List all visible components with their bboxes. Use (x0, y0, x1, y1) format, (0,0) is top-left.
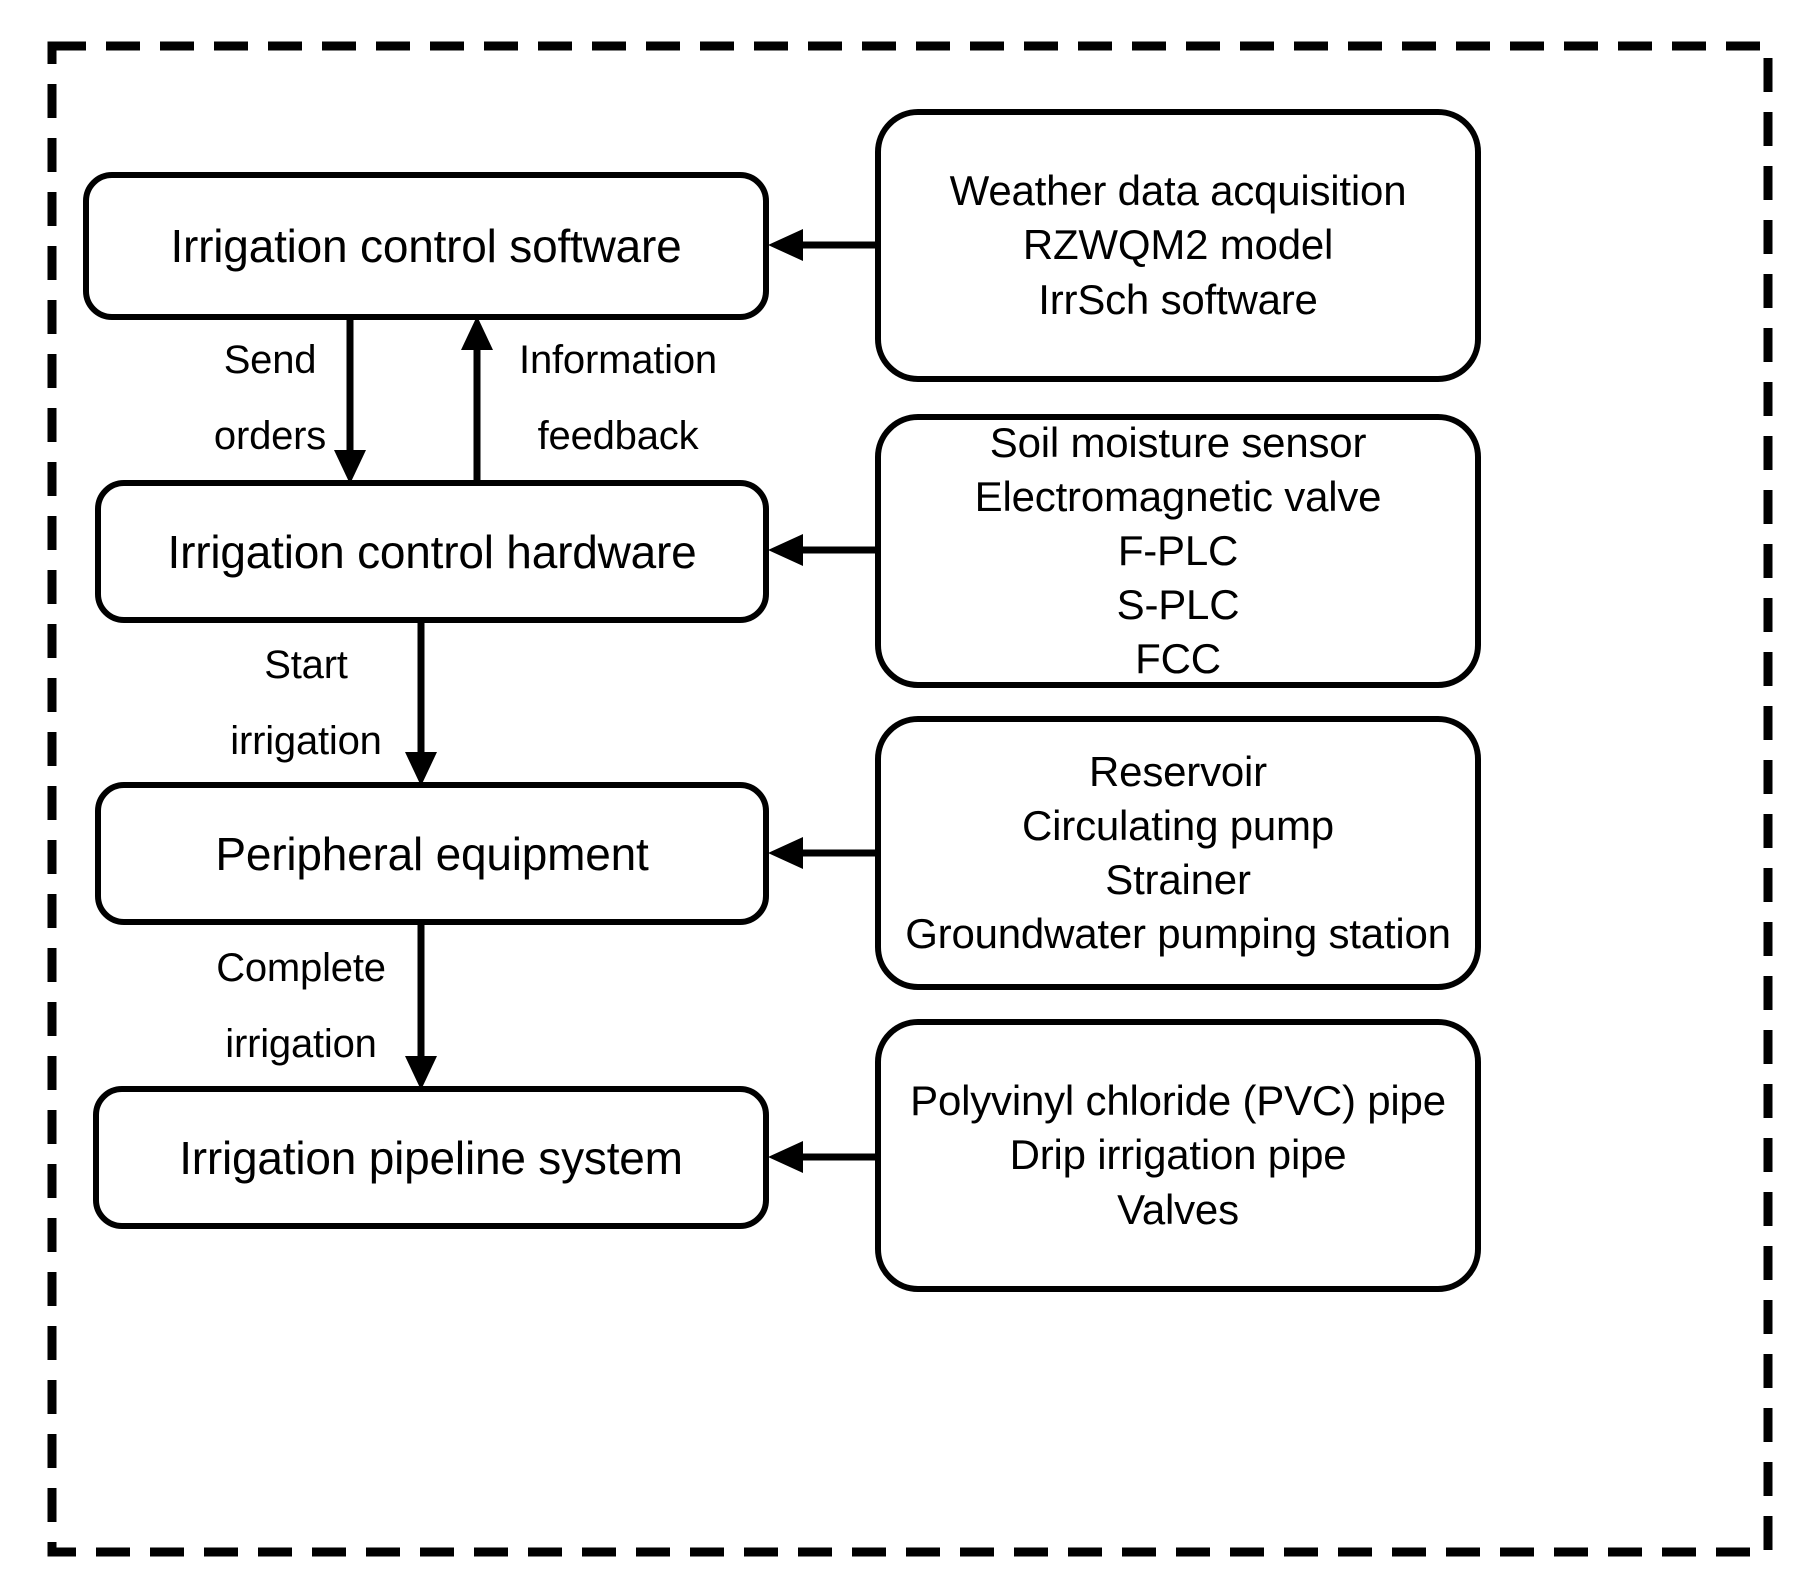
diagram-canvas: Irrigation control software Irrigation c… (0, 0, 1819, 1595)
detail-line: FCC (1135, 632, 1221, 686)
detail-line: Groundwater pumping station (905, 907, 1451, 961)
edge-label-send-orders-line1: Send (200, 340, 340, 380)
detail-line: S-PLC (1117, 578, 1240, 632)
stage-label-hardware: Irrigation control hardware (98, 483, 766, 620)
edge-label-complete-irrigation-line1: Complete (190, 948, 412, 988)
edge-label-complete-irrigation: Complete irrigation (190, 948, 412, 1064)
detail-line: F-PLC (1118, 524, 1238, 578)
edge-label-information-feedback: Information feedback (498, 340, 738, 456)
detail-line: RZWQM2 model (1023, 218, 1333, 272)
stage-label-hardware-text: Irrigation control hardware (168, 529, 697, 575)
detail-list-software: Weather data acquisition RZWQM2 model Ir… (878, 112, 1478, 379)
edge-label-information-feedback-line2: feedback (498, 416, 738, 456)
stage-label-peripheral-text: Peripheral equipment (215, 831, 648, 877)
detail-line: Drip irrigation pipe (1010, 1128, 1347, 1182)
edge-label-start-irrigation-line2: irrigation (200, 721, 412, 761)
detail-line: Reservoir (1089, 745, 1267, 799)
detail-line: Circulating pump (1022, 799, 1334, 853)
edge-arrowhead-information-feedback (461, 316, 493, 350)
detail-line: Valves (1117, 1183, 1239, 1237)
edge-label-start-irrigation: Start irrigation (200, 645, 412, 761)
detail-line: IrrSch software (1038, 273, 1317, 327)
edge-label-information-feedback-line1: Information (498, 340, 738, 380)
stage-label-peripheral: Peripheral equipment (98, 785, 766, 922)
detail-line: Soil moisture sensor (990, 416, 1366, 470)
edge-label-complete-irrigation-line2: irrigation (190, 1024, 412, 1064)
edge-label-start-irrigation-line1: Start (200, 645, 412, 685)
edge-label-send-orders-line2: orders (200, 416, 340, 456)
stage-label-software-text: Irrigation control software (170, 223, 681, 269)
stage-label-pipeline: Irrigation pipeline system (96, 1089, 766, 1226)
detail-list-pipeline: Polyvinyl chloride (PVC) pipe Drip irrig… (878, 1022, 1478, 1289)
edge-label-send-orders: Send orders (200, 340, 340, 456)
edge-arrowhead-detail-hardware (768, 534, 803, 566)
detail-list-hardware: Soil moisture sensor Electromagnetic val… (878, 417, 1478, 685)
stage-label-software: Irrigation control software (86, 175, 766, 317)
detail-line: Weather data acquisition (950, 164, 1407, 218)
detail-line: Strainer (1105, 853, 1250, 907)
detail-list-peripheral: Reservoir Circulating pump Strainer Grou… (878, 719, 1478, 987)
edge-arrowhead-detail-software (768, 229, 803, 261)
edge-arrowhead-detail-peripheral (768, 837, 803, 869)
detail-line: Electromagnetic valve (975, 470, 1382, 524)
edge-arrowhead-detail-pipeline (768, 1141, 803, 1173)
detail-line: Polyvinyl chloride (PVC) pipe (910, 1074, 1446, 1128)
stage-label-pipeline-text: Irrigation pipeline system (179, 1135, 683, 1181)
